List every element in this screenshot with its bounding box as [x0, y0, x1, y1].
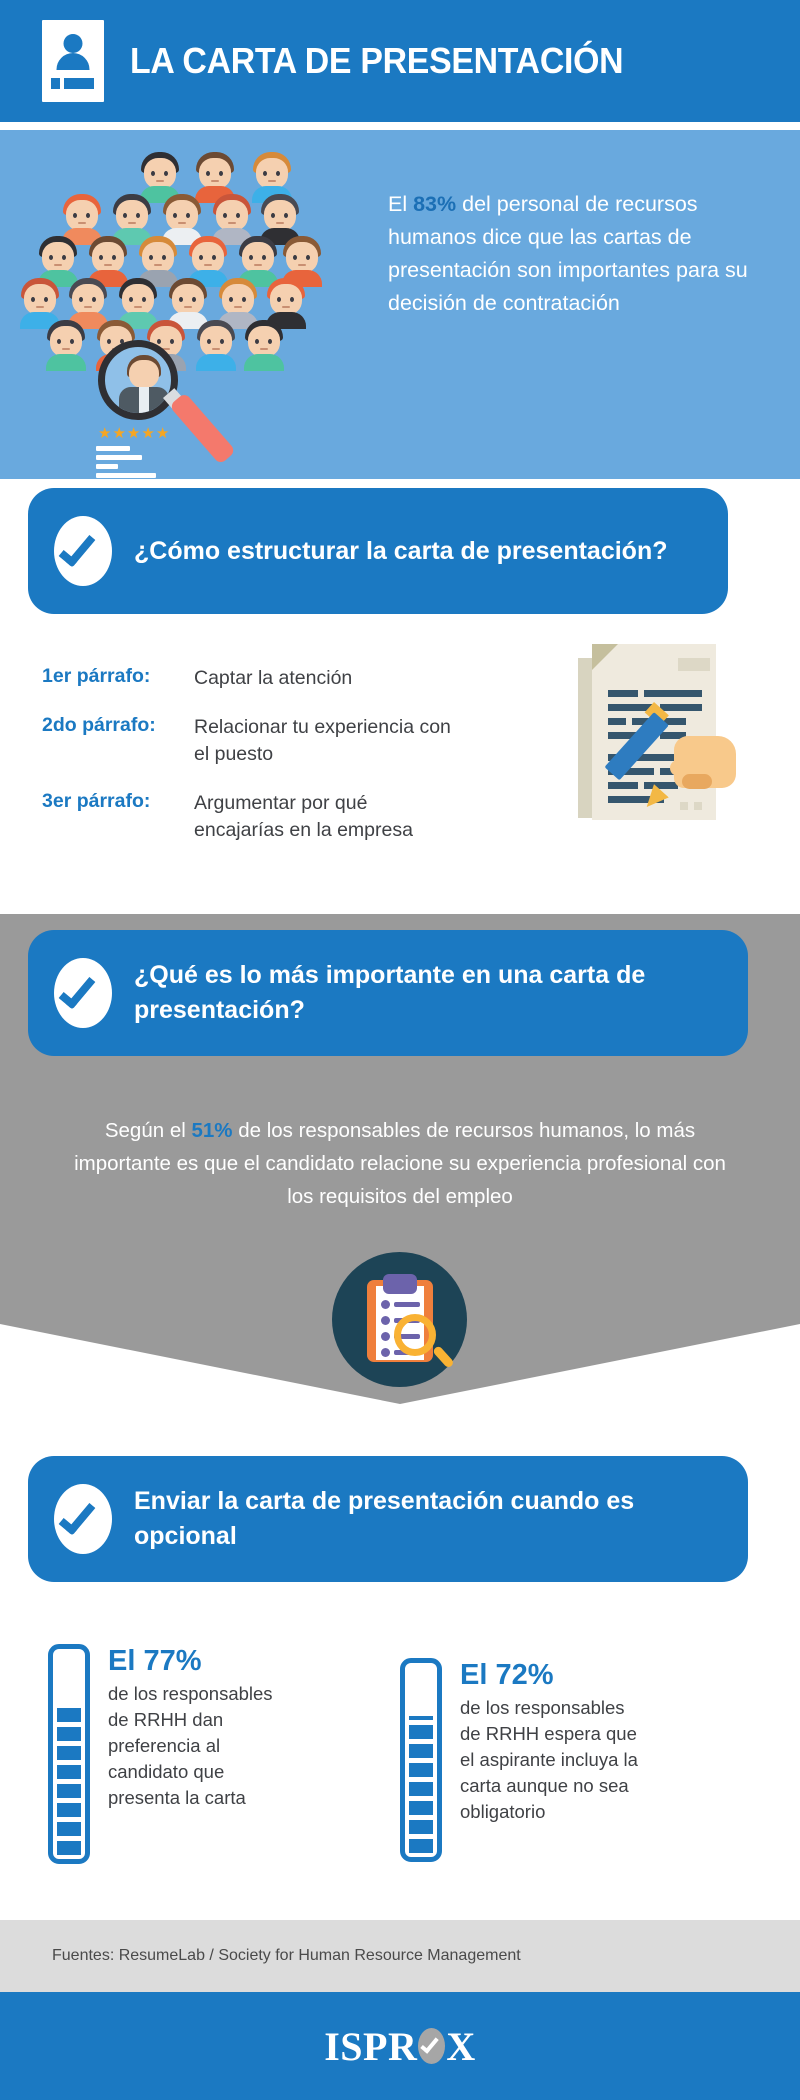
banner-enviar-title: Enviar la carta de presentación cuando e…: [134, 1484, 728, 1554]
parrafo-label: 2do párrafo:: [42, 714, 194, 768]
sources-text: Fuentes: ResumeLab / Society for Human R…: [52, 1947, 521, 1965]
page-title: LA CARTA DE PRESENTACIÓN: [130, 40, 623, 82]
page-header: LA CARTA DE PRESENTACIÓN: [0, 0, 800, 122]
intro-text-before: El: [388, 192, 413, 216]
magnifier-candidate-icon: ★★★★★: [92, 340, 267, 470]
battery-gauge-icon: [48, 1644, 90, 1864]
stat-percent: El 72%: [460, 1658, 650, 1692]
importante-text-before: Según el: [105, 1119, 192, 1142]
brand-text-part2: X: [446, 2023, 475, 2070]
banner-importante-title: ¿Qué es lo más importante en una carta d…: [134, 958, 728, 1028]
importante-statistic-text: Según el 51% de los responsables de recu…: [60, 1114, 740, 1213]
parrafo-list: 1er párrafo: Captar la atención 2do párr…: [42, 665, 462, 866]
intro-stat-value: 83%: [413, 192, 456, 216]
brand-text-part1: ISPR: [324, 2023, 417, 2070]
section-intro: ★★★★★ El 83% del personal de recursos hu…: [0, 130, 800, 479]
banner-estructurar: ¿Cómo estructurar la carta de presentaci…: [28, 488, 728, 614]
clipboard-magnifier-icon: [332, 1252, 467, 1387]
importante-stat-value: 51%: [191, 1119, 232, 1142]
avatar-icon: [44, 320, 88, 370]
banner-importante: ¿Qué es lo más importante en una carta d…: [28, 930, 748, 1056]
sources-bar: Fuentes: ResumeLab / Society for Human R…: [0, 1920, 800, 1992]
section-porcentajes: El 77% de los responsables de RRHH dan p…: [0, 1630, 800, 1920]
check-badge-icon: [54, 958, 112, 1028]
check-badge-icon: [54, 516, 112, 586]
rating-stars-icon: ★★★★★: [98, 426, 178, 441]
id-badge-icon: [42, 20, 104, 102]
parrafo-value: Captar la atención: [194, 665, 352, 692]
crowd-illustration-icon: [18, 152, 318, 362]
banner-enviar: Enviar la carta de presentación cuando e…: [28, 1456, 748, 1582]
document-lines-icon: [96, 446, 182, 479]
brand-bar: ISPR X: [0, 1992, 800, 2100]
parrafo-label: 1er párrafo:: [42, 665, 194, 692]
parrafo-value: Relacionar tu experiencia con el puesto: [194, 714, 462, 768]
section-parrafos: 1er párrafo: Captar la atención 2do párr…: [0, 620, 800, 890]
stat-description: de los responsables de RRHH espera que e…: [460, 1695, 650, 1825]
stat-block-72: El 72% de los responsables de RRHH esper…: [400, 1658, 740, 1862]
banner-estructurar-title: ¿Cómo estructurar la carta de presentaci…: [134, 534, 667, 569]
list-item: 3er párrafo: Argumentar por qué encajarí…: [42, 790, 462, 844]
parrafo-label: 3er párrafo:: [42, 790, 194, 844]
isprox-check-oval-icon: [418, 2028, 445, 2064]
intro-statistic-text: El 83% del personal de recursos humanos …: [388, 188, 760, 320]
document-with-pencil-icon: [578, 632, 738, 822]
list-item: 2do párrafo: Relacionar tu experiencia c…: [42, 714, 462, 768]
parrafo-value: Argumentar por qué encajarías en la empr…: [194, 790, 462, 844]
stat-block-77: El 77% de los responsables de RRHH dan p…: [48, 1644, 378, 1864]
list-item: 1er párrafo: Captar la atención: [42, 665, 462, 692]
check-badge-icon: [54, 1484, 112, 1554]
stat-description: de los responsables de RRHH dan preferen…: [108, 1681, 283, 1811]
stat-percent: El 77%: [108, 1644, 283, 1678]
isprox-logo: ISPR X: [324, 2023, 476, 2070]
battery-gauge-icon: [400, 1658, 442, 1862]
